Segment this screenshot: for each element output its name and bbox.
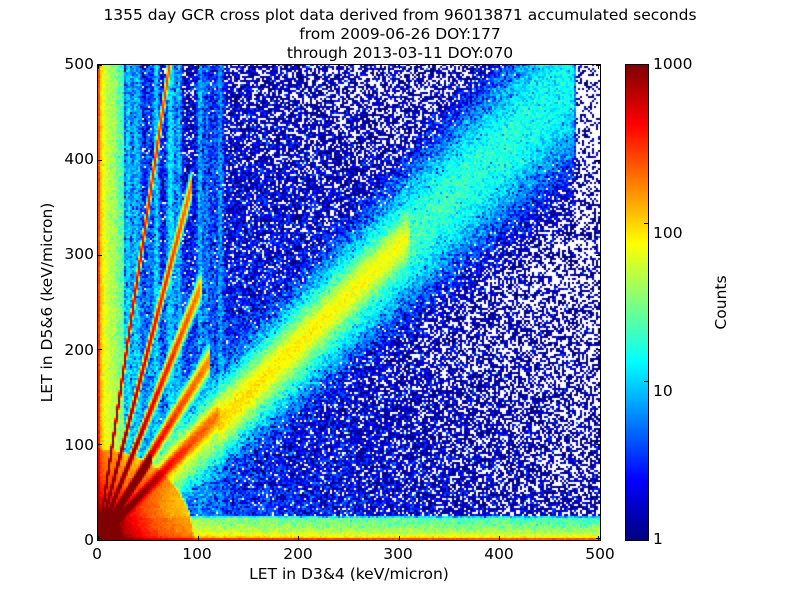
- density-heatmap: [98, 65, 600, 540]
- x-tick: [499, 65, 500, 69]
- y-tick: [98, 444, 102, 445]
- y-tick: [98, 65, 102, 66]
- y-tick: [98, 160, 102, 161]
- x-tick: [499, 536, 500, 540]
- y-tick: [98, 255, 102, 256]
- title-line-1: 1355 day GCR cross plot data derived fro…: [0, 6, 800, 25]
- colorbar-tick: [644, 381, 648, 382]
- colorbar-tick: [644, 223, 648, 224]
- y-tick: [596, 160, 600, 161]
- x-tick: [198, 536, 199, 540]
- y-tick: [98, 349, 102, 350]
- y-tick: [596, 444, 600, 445]
- colorbar-tick-label: 100: [653, 224, 683, 242]
- plot-axes: [97, 64, 601, 541]
- y-tick: [98, 538, 102, 539]
- colorbar: [625, 64, 649, 541]
- y-tick: [596, 538, 600, 539]
- colorbar-label: Counts: [712, 64, 730, 541]
- colorbar-tick-label: 1000: [653, 55, 692, 73]
- x-tick: [198, 65, 199, 69]
- y-tick: [596, 65, 600, 66]
- xtick-label: 300: [358, 545, 438, 563]
- xtick-label: 100: [157, 545, 237, 563]
- x-axis-label: LET in D3&4 (keV/micron): [97, 565, 601, 583]
- figure-canvas: 1355 day GCR cross plot data derived fro…: [0, 0, 800, 600]
- x-tick: [399, 65, 400, 69]
- x-tick: [298, 536, 299, 540]
- colorbar-tick-label: 1: [653, 530, 663, 548]
- y-axis-label: LET in D5&6 (keV/micron): [38, 64, 56, 541]
- y-tick: [596, 255, 600, 256]
- xtick-label: 400: [459, 545, 539, 563]
- colorbar-gradient: [626, 65, 648, 540]
- x-tick: [298, 65, 299, 69]
- colorbar-tick-label: 10: [653, 382, 673, 400]
- xtick-label: 500: [560, 545, 640, 563]
- xtick-label: 200: [258, 545, 338, 563]
- y-tick: [596, 349, 600, 350]
- x-tick: [399, 536, 400, 540]
- title-line-2: from 2009-06-26 DOY:177: [0, 25, 800, 44]
